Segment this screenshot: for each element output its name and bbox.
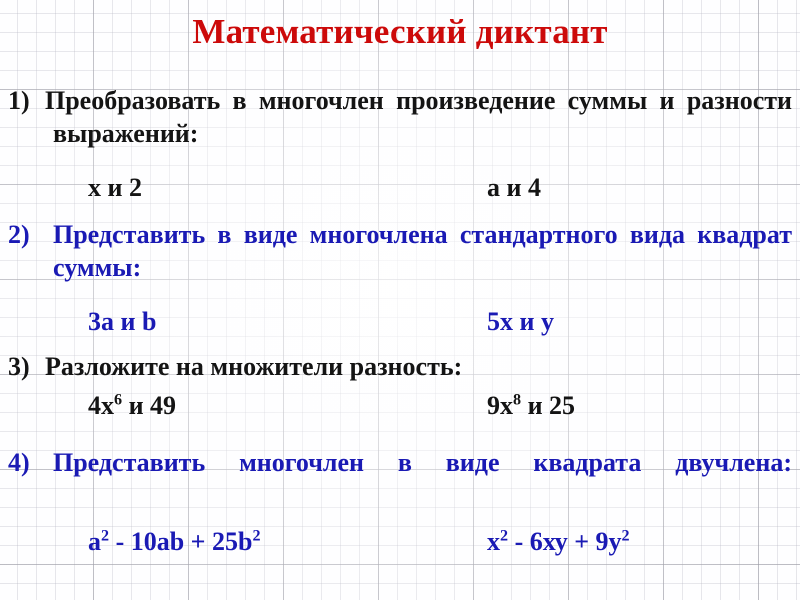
task-4-right-exponent-2: 2: [622, 527, 630, 544]
task-4-left-term: а: [88, 527, 101, 556]
task-4-prompt: 4)Представить многочлен в виде квадрата …: [8, 446, 792, 512]
task-3-left-base: 4х: [88, 391, 114, 420]
task-2-answer-left: 3а и b: [88, 306, 156, 338]
task-3-right-base: 9х: [487, 391, 513, 420]
task-2-prompt: 2)Представить в виде многочлена стандарт…: [8, 218, 792, 317]
task-4-left-exponent-1: 2: [101, 527, 109, 544]
task-1-answer-right: а и 4: [487, 172, 541, 204]
task-3-right-exponent: 8: [513, 391, 521, 408]
task-item-1: 1)Преобразовать в многочлен произведение…: [8, 84, 792, 183]
task-item-2: 2)Представить в виде многочлена стандарт…: [8, 218, 792, 317]
task-4-prompt-text: Представить многочлен в виде квадрата дв…: [53, 448, 792, 477]
task-3-marker: 3): [8, 350, 45, 383]
task-3-answer-left: 4х6 и 49: [88, 390, 176, 422]
slide-canvas: Математический диктант 1)Преобразовать в…: [0, 0, 800, 600]
task-2-marker: 2): [8, 218, 53, 251]
task-4-marker: 4): [8, 446, 53, 479]
task-3-left-tail: и 49: [122, 391, 176, 420]
task-4-answer-right: х2 - 6ху + 9у2: [487, 526, 630, 558]
task-3-left-exponent: 6: [114, 391, 122, 408]
task-1-marker: 1): [8, 84, 45, 117]
task-4-right-exponent-1: 2: [500, 527, 508, 544]
task-1-prompt-text: Преобразовать в многочлен произведение с…: [45, 86, 792, 148]
task-3-prompt: 3)Разложите на множители разность:: [8, 350, 792, 383]
task-3-answer-right: 9х8 и 25: [487, 390, 575, 422]
task-4-right-middle: - 6ху + 9у: [508, 527, 621, 556]
task-4-answer-left: а2 - 10ab + 25b2: [88, 526, 261, 558]
task-3-prompt-text: Разложите на множители разность:: [45, 352, 462, 381]
task-1-answer-left: х и 2: [88, 172, 142, 204]
task-4-right-term: х: [487, 527, 500, 556]
task-item-4: 4)Представить многочлен в виде квадрата …: [8, 446, 792, 512]
task-4-left-exponent-2: 2: [252, 527, 260, 544]
task-1-prompt: 1)Преобразовать в многочлен произведение…: [8, 84, 792, 183]
task-4-left-middle: - 10ab + 25b: [109, 527, 252, 556]
slide-content: Математический диктант 1)Преобразовать в…: [0, 0, 800, 600]
page-title: Математический диктант: [0, 12, 800, 52]
task-2-prompt-text: Представить в виде многочлена стандартно…: [53, 220, 792, 282]
task-item-3: 3)Разложите на множители разность:: [8, 350, 792, 383]
task-3-right-tail: и 25: [521, 391, 575, 420]
task-2-answer-right: 5х и у: [487, 306, 554, 338]
